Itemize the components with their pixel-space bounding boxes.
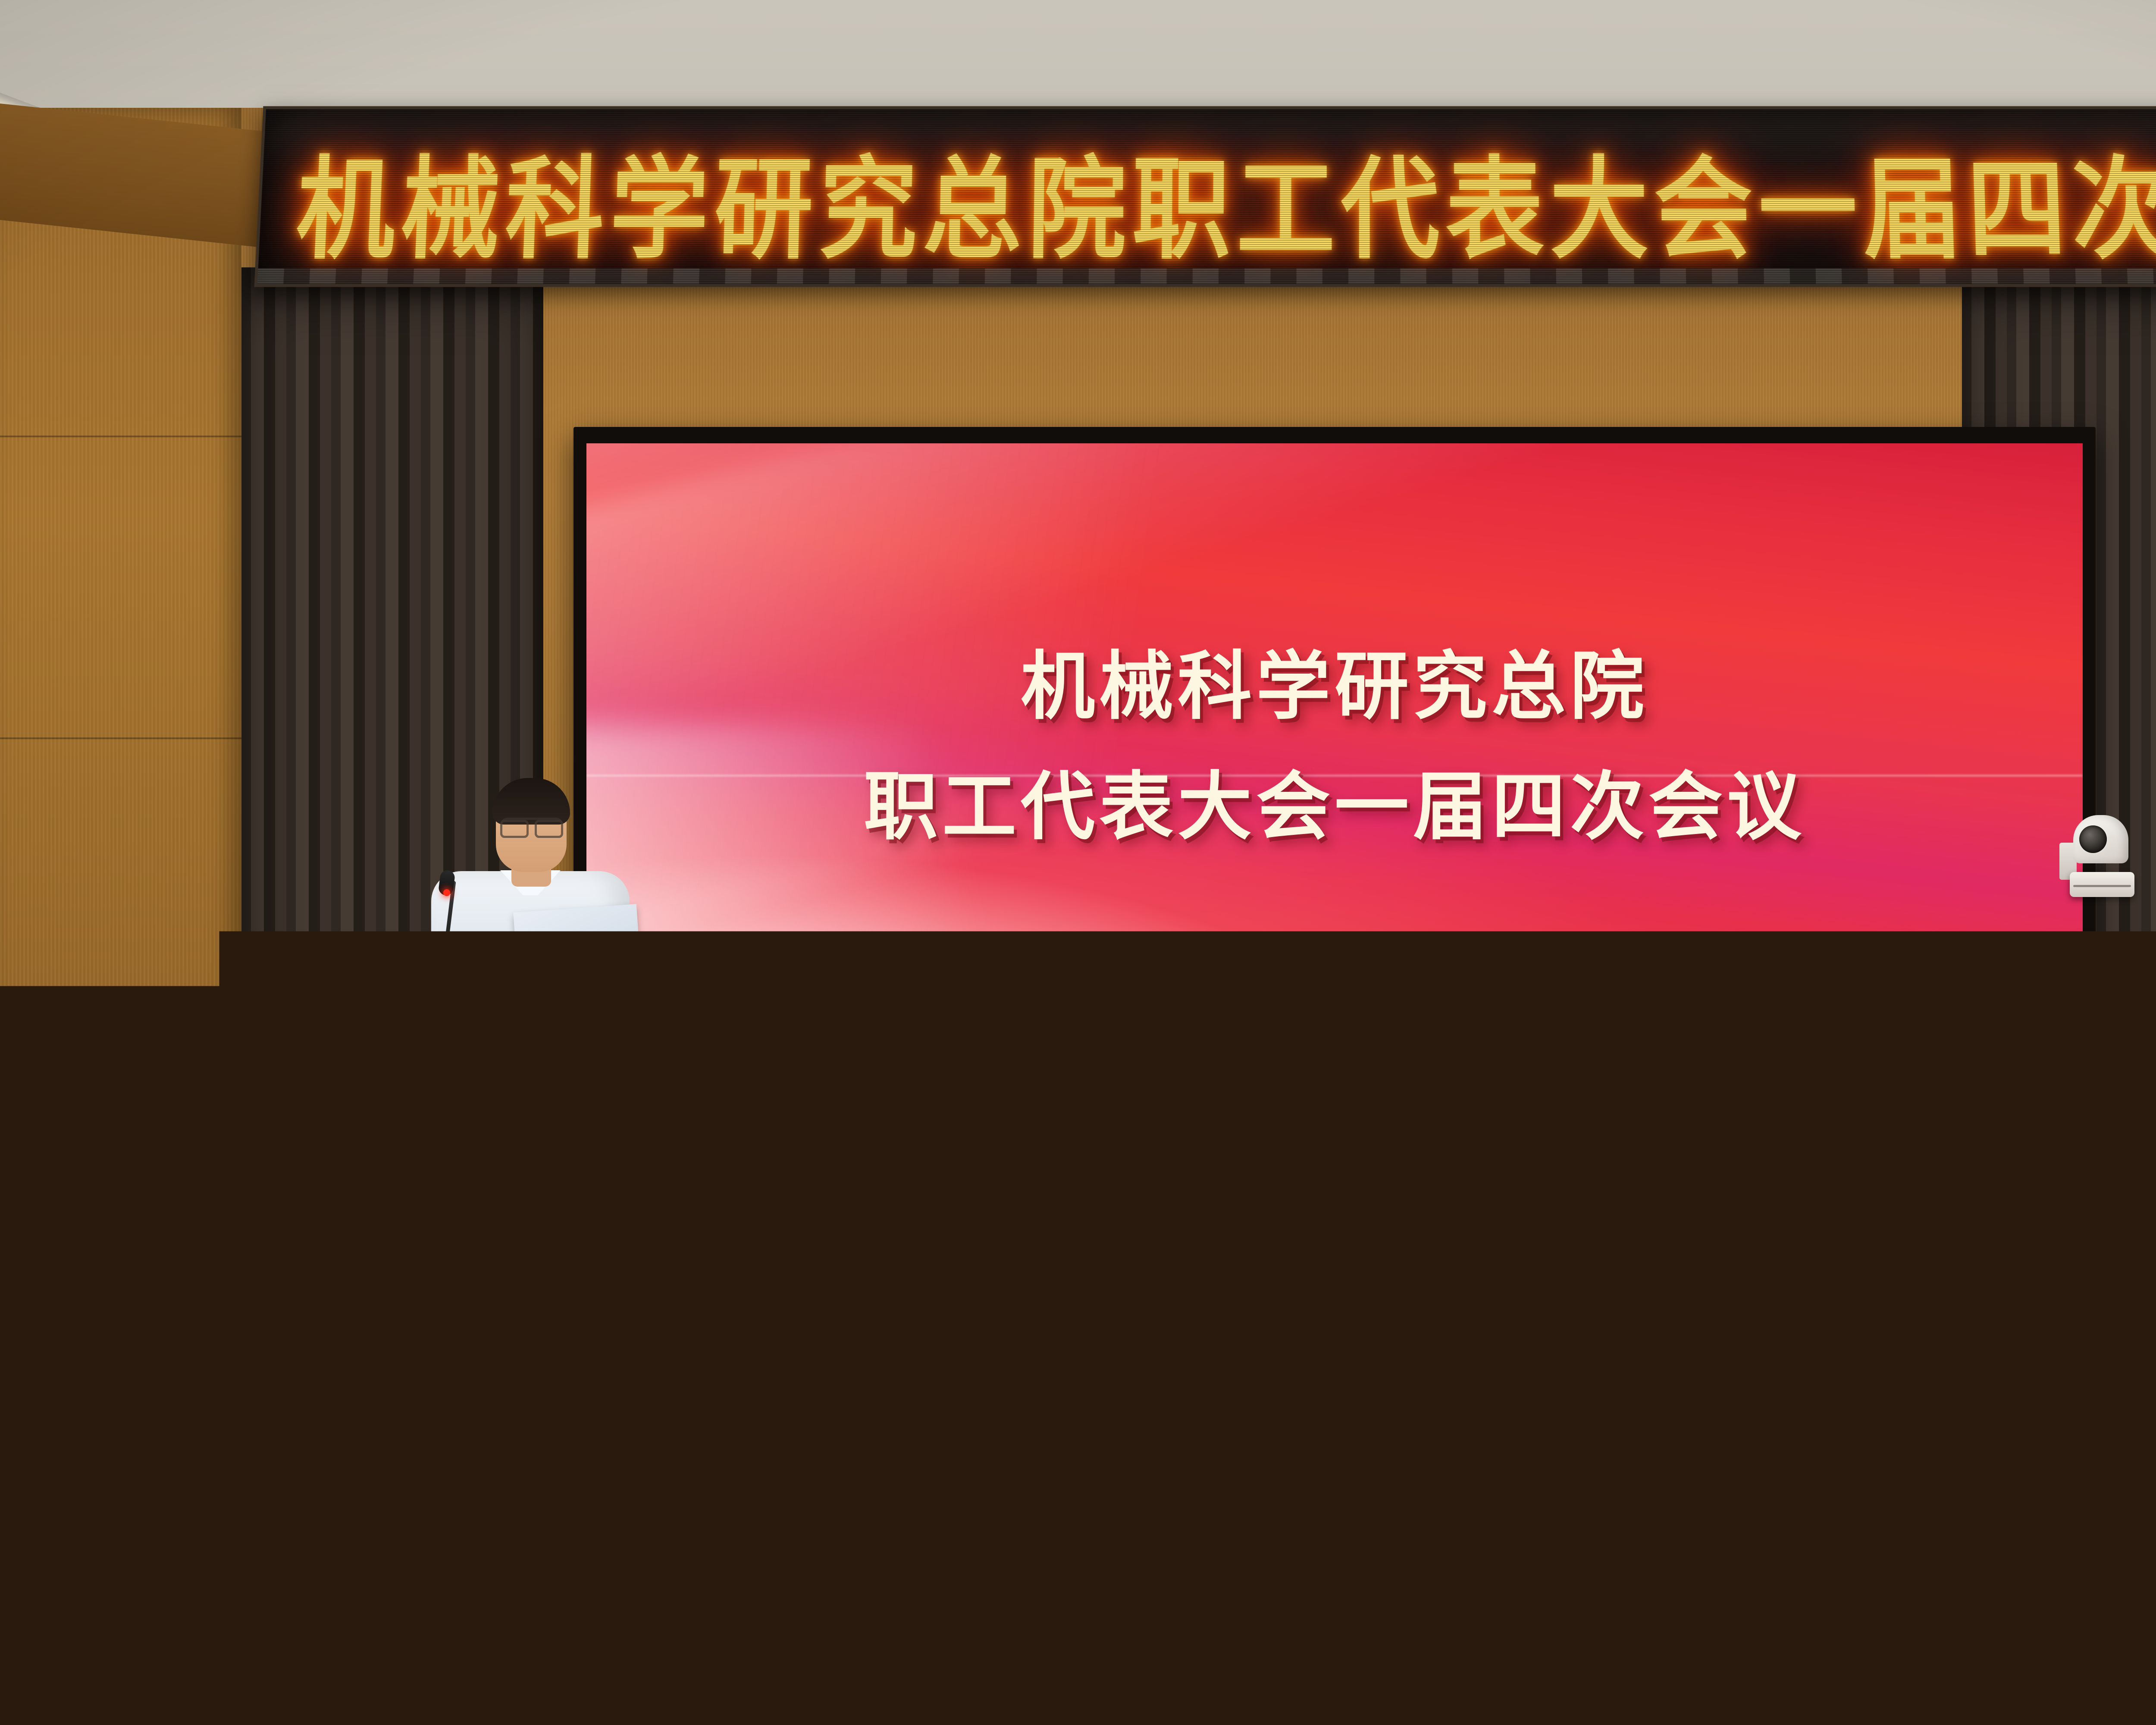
- microphone-status-led: [443, 889, 450, 896]
- podium-top-rail: [396, 966, 656, 1000]
- led-banner: 机械科学研究总院职工代表大会一届四次会议: [254, 106, 2156, 287]
- placard-wordmark-bars: [135, 1236, 158, 1240]
- person-hair: [874, 1151, 981, 1248]
- person-hair: [679, 1236, 813, 1367]
- person-hair: [1008, 1101, 1088, 1170]
- water-bottle: [1242, 1138, 1279, 1216]
- placard-logo: [220, 1435, 265, 1445]
- bottle-neck: [1253, 1148, 1268, 1168]
- person-hair: [766, 1109, 846, 1178]
- person-hair: [1724, 1239, 1863, 1374]
- person-hair: [559, 1151, 666, 1248]
- person-hair: [1226, 1302, 1429, 1475]
- person-hair: [1859, 1079, 1944, 1151]
- person-hair: [1269, 1066, 1357, 1138]
- person-hair: [60, 1245, 185, 1369]
- audience-person: [354, 1233, 561, 1552]
- person-hair: [43, 1373, 182, 1515]
- audience-person: [1682, 1246, 1906, 1583]
- bottle-neck: [282, 1431, 301, 1458]
- person-hair: [1072, 1155, 1179, 1254]
- speaker-glasses-icon: [500, 818, 563, 832]
- person-hair: [1954, 1311, 2156, 1483]
- wall-seam-lower: [0, 737, 259, 739]
- bottle-cap: [280, 1419, 303, 1434]
- slide-title-line-2: 职工代表大会一届四次会议: [586, 747, 2083, 867]
- placard-logo: [125, 1235, 158, 1241]
- conference-hall-photo: 机械科学研究总院职工代表大会一届四次会议 机械科学研究总院 职工代表大会一届四次…: [0, 0, 2156, 1725]
- led-banner-text: 机械科学研究总院职工代表大会一届四次会议: [257, 120, 2156, 279]
- projection-screen: 机械科学研究总院 职工代表大会一届四次会议 机械科学研究总院 China Aca…: [586, 443, 2083, 1149]
- slide-title-line-1: 机械科学研究总院: [586, 627, 2083, 747]
- bottle-cap: [1251, 1138, 1269, 1150]
- ptz-camera: [2070, 815, 2134, 897]
- projection-screen-frame: 机械科学研究总院 职工代表大会一届四次会议 机械科学研究总院 China Aca…: [573, 427, 2096, 1160]
- led-banner-mount-strip: [257, 268, 2156, 284]
- person-hair: [307, 1138, 409, 1228]
- placard-wordmark-bars: [234, 1438, 265, 1442]
- camera-base: [2070, 872, 2134, 897]
- person-hair: [393, 1227, 521, 1355]
- water-bottle: [267, 1419, 315, 1522]
- bottle-label-red: [267, 1480, 315, 1502]
- person-hair: [1630, 1155, 1742, 1255]
- audience-person: [841, 1156, 1013, 1397]
- foreground-table-right: [1574, 1600, 2156, 1725]
- placard-triangle-icon: [125, 1235, 133, 1241]
- camera-head: [2073, 815, 2128, 863]
- person-hair: [1656, 1083, 1742, 1154]
- slide-title-block: 机械科学研究总院 职工代表大会一届四次会议: [586, 627, 2083, 867]
- wall-seam-upper: [0, 436, 259, 437]
- foreground-table-left: [0, 1587, 1440, 1725]
- bottle-label-red: [1242, 1184, 1279, 1201]
- left-wall-wood-panel: [0, 108, 241, 1272]
- camera-lens-icon: [2079, 825, 2107, 853]
- person-hair: [614, 1364, 791, 1519]
